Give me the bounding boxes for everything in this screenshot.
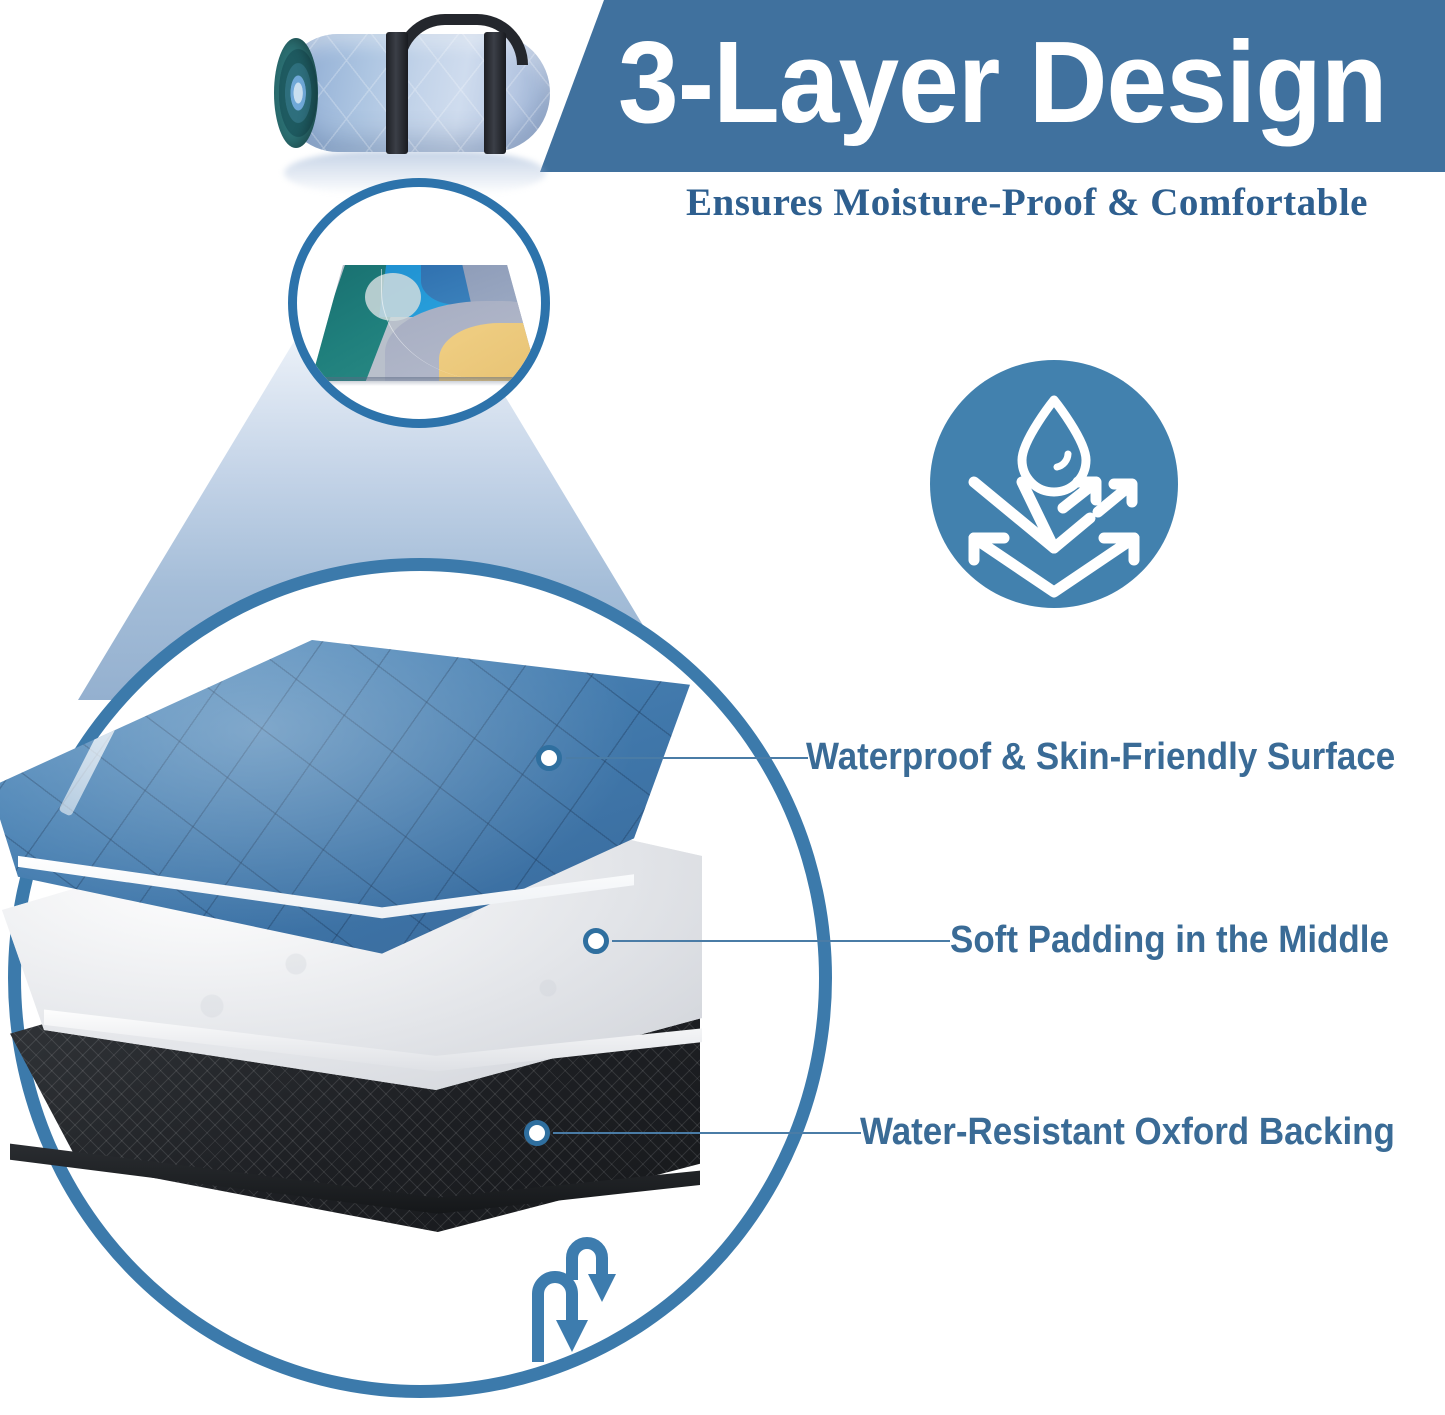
callout-line-oxford — [553, 1132, 861, 1134]
inset-circle-mat-top-view — [288, 178, 550, 428]
infographic-canvas: 3-Layer Design Ensures Moisture-Proof & … — [0, 0, 1445, 1415]
callout-line-padding — [612, 940, 950, 942]
rolled-mat-carry-handle — [394, 14, 528, 65]
callout-marker-oxford[interactable] — [524, 1120, 550, 1146]
rolled-mat-photo — [258, 12, 558, 187]
callout-marker-waterproof[interactable] — [536, 745, 562, 771]
water-drop-layers-icon — [930, 360, 1178, 608]
mat-top-view-surface — [311, 265, 539, 381]
mat-top-view-shadow — [311, 377, 539, 386]
three-layer-cutaway — [0, 640, 760, 1340]
callout-label-oxford: Water-Resistant Oxford Backing — [860, 1111, 1395, 1154]
callout-label-waterproof: Waterproof & Skin-Friendly Surface — [806, 736, 1395, 779]
callout-label-padding: Soft Padding in the Middle — [950, 919, 1389, 962]
page-subtitle: Ensures Moisture-Proof & Comfortable — [612, 180, 1442, 225]
callout-marker-padding[interactable] — [583, 928, 609, 954]
waterproof-badge — [930, 360, 1178, 608]
callout-line-waterproof — [566, 757, 808, 759]
page-title: 3-Layer Design — [618, 0, 1394, 168]
rolled-mat-strap-right — [484, 32, 506, 154]
rolled-mat-end-spiral — [274, 38, 318, 148]
reversible-arrows-icon — [512, 1236, 622, 1366]
rolled-mat-strap-left — [386, 32, 408, 154]
